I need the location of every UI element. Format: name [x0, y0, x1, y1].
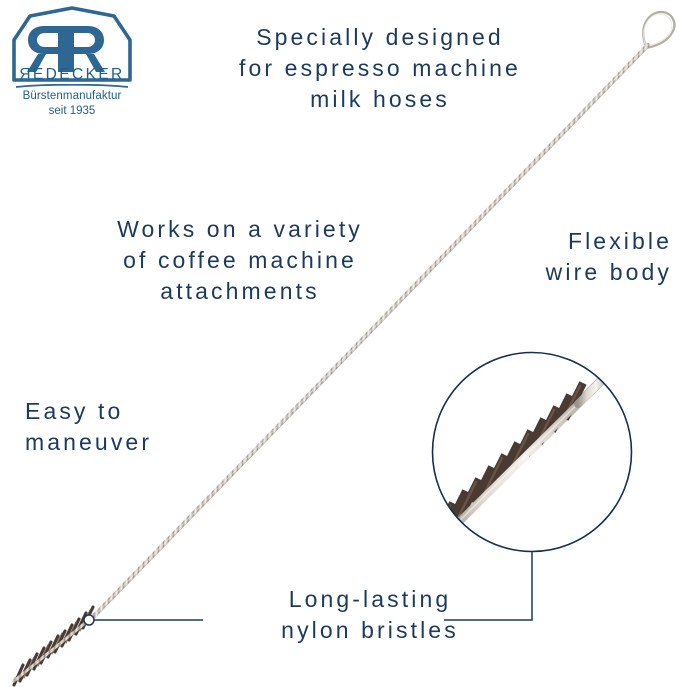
leader-line-bristles — [84, 615, 203, 625]
callout-specially-designed: Specially designed for espresso machine … — [180, 22, 580, 115]
callout-flexible-wire-body: Flexible wire body — [440, 226, 672, 288]
brush-bristle-section — [14, 607, 95, 685]
logo-tagline-line2: seit 1935 — [8, 105, 136, 117]
callout-long-lasting-nylon-bristles: Long-lasting nylon bristles — [205, 584, 535, 646]
logo-tagline-line1: Bürstenmanufaktur — [8, 90, 136, 102]
redecker-logo: ЯEDECKER Bürstenmanufaktur seit 1935 — [8, 4, 136, 124]
callout-works-on-variety: Works on a variety of coffee machine att… — [60, 214, 420, 307]
callout-easy-to-maneuver: Easy to maneuver — [25, 396, 325, 458]
infographic-canvas: ЯEDECKER Bürstenmanufaktur seit 1935 Spe… — [0, 0, 679, 687]
bristle-detail-magnifier — [433, 353, 632, 552]
logo-divider — [16, 84, 128, 89]
logo-wordmark: ЯEDECKER — [8, 66, 136, 84]
magnifier-outline — [433, 353, 632, 552]
brush-wire-shaft — [92, 45, 649, 619]
brush-hanging-loop — [643, 12, 674, 48]
